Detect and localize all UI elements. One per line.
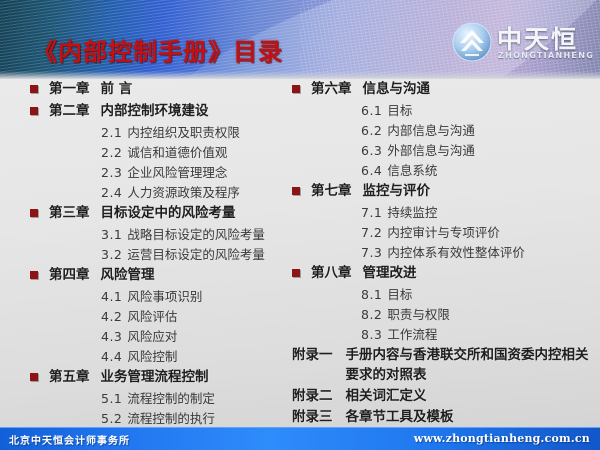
toc-section-title: 内部信息与沟通 bbox=[387, 123, 475, 138]
toc-chapter-title: 业务管理流程控制 bbox=[101, 369, 209, 385]
toc-chapter-number: 第一章 bbox=[49, 81, 90, 97]
toc-section-title: 战略目标设定的风险考量 bbox=[127, 227, 265, 242]
toc-chapter-title: 信息与沟通 bbox=[363, 81, 431, 97]
toc-section-number: 8.2 bbox=[361, 307, 382, 322]
toc-section-item[interactable]: 8.2职责与权限 bbox=[361, 305, 592, 324]
toc-section-number: 6.2 bbox=[361, 123, 382, 138]
company-logo: 中天恒 ZHONGTIANHENG bbox=[452, 22, 592, 68]
mountain-chevron-emblem-icon bbox=[452, 22, 492, 62]
toc-chapter-item[interactable]: 第一章前 言 bbox=[30, 79, 295, 99]
toc-right-column: 第六章信息与沟通6.1目标6.2内部信息与沟通6.3外部信息与沟通6.4信息系统… bbox=[292, 79, 592, 428]
toc-chapter-title: 前 言 bbox=[101, 81, 133, 97]
toc-section-item[interactable]: 2.4人力资源政策及程序 bbox=[101, 183, 295, 202]
toc-section-item[interactable]: 6.2内部信息与沟通 bbox=[361, 121, 592, 140]
toc-section-number: 2.4 bbox=[101, 185, 122, 200]
slide-footer-bar: 北京中天恒会计师事务所 www.zhongtianheng.com.cn bbox=[0, 427, 600, 450]
toc-appendix-title: 手册内容与香港联交所和国资委内控相关要求的对照表 bbox=[346, 345, 593, 385]
toc-section-number: 6.4 bbox=[361, 163, 382, 178]
toc-chapter-item[interactable]: 第四章风险管理 bbox=[30, 265, 295, 285]
toc-section-number: 5.2 bbox=[101, 411, 122, 426]
toc-chapter-label: 第一章前 言 bbox=[49, 79, 132, 99]
toc-left-column: 第一章前 言第二章内部控制环境建设2.1内控组织及职责权限2.2诚信和道德价值观… bbox=[30, 79, 295, 429]
toc-chapter-item[interactable]: 第五章业务管理流程控制 bbox=[30, 367, 295, 387]
toc-section-title: 信息系统 bbox=[387, 163, 437, 178]
toc-section-item[interactable]: 6.3外部信息与沟通 bbox=[361, 141, 592, 160]
toc-section-title: 风险评估 bbox=[127, 309, 177, 324]
toc-appendix-item[interactable]: 附录一手册内容与香港联交所和国资委内控相关要求的对照表 bbox=[292, 345, 592, 385]
toc-chapter-number: 第七章 bbox=[311, 183, 352, 199]
toc-section-number: 7.2 bbox=[361, 225, 382, 240]
toc-section-item[interactable]: 4.2风险评估 bbox=[101, 307, 295, 326]
toc-chapter-label: 第七章监控与评价 bbox=[311, 181, 430, 201]
toc-section-title: 内控体系有效性整体评价 bbox=[387, 245, 525, 260]
toc-section-item[interactable]: 2.2诚信和道德价值观 bbox=[101, 143, 295, 162]
toc-section-title: 运营目标设定的风险考量 bbox=[127, 247, 265, 262]
table-of-contents: 第一章前 言第二章内部控制环境建设2.1内控组织及职责权限2.2诚信和道德价值观… bbox=[0, 79, 600, 424]
footer-organization: 北京中天恒会计师事务所 bbox=[9, 432, 130, 447]
toc-section-title: 工作流程 bbox=[387, 327, 437, 342]
toc-section-item[interactable]: 2.1内控组织及职责权限 bbox=[101, 123, 295, 142]
square-bullet-icon bbox=[30, 271, 38, 279]
toc-section-title: 职责与权限 bbox=[387, 307, 450, 322]
toc-appendix-label: 附录一 bbox=[292, 345, 333, 365]
toc-chapter-number: 第四章 bbox=[49, 267, 90, 283]
toc-section-title: 风险事项识别 bbox=[127, 289, 202, 304]
toc-section-number: 7.3 bbox=[361, 245, 382, 260]
square-bullet-icon bbox=[30, 85, 38, 93]
square-bullet-icon bbox=[30, 209, 38, 217]
toc-section-number: 7.1 bbox=[361, 205, 382, 220]
toc-chapter-item[interactable]: 第二章内部控制环境建设 bbox=[30, 101, 295, 121]
toc-appendix-label: 附录二 bbox=[292, 386, 333, 406]
toc-section-item[interactable]: 2.3企业风险管理理念 bbox=[101, 163, 295, 182]
toc-section-title: 目标 bbox=[387, 287, 412, 302]
toc-section-item[interactable]: 7.2内控审计与专项评价 bbox=[361, 223, 592, 242]
toc-chapter-number: 第六章 bbox=[311, 81, 352, 97]
toc-section-title: 诚信和道德价值观 bbox=[127, 145, 227, 160]
toc-chapter-item[interactable]: 第八章管理改进 bbox=[292, 263, 592, 283]
toc-section-item[interactable]: 3.1战略目标设定的风险考量 bbox=[101, 225, 295, 244]
footer-website-link[interactable]: www.zhongtianheng.com.cn bbox=[414, 432, 590, 445]
toc-section-number: 2.3 bbox=[101, 165, 122, 180]
toc-chapter-item[interactable]: 第七章监控与评价 bbox=[292, 181, 592, 201]
toc-section-title: 内控审计与专项评价 bbox=[387, 225, 500, 240]
toc-section-number: 6.1 bbox=[361, 103, 382, 118]
page-title: 《内部控制手册》目录 bbox=[33, 32, 283, 67]
toc-section-item[interactable]: 6.4信息系统 bbox=[361, 161, 592, 180]
toc-appendix-title: 各章节工具及模板 bbox=[346, 407, 454, 427]
toc-chapter-label: 第二章内部控制环境建设 bbox=[49, 101, 209, 121]
toc-section-item[interactable]: 7.3内控体系有效性整体评价 bbox=[361, 243, 592, 262]
toc-section-number: 8.1 bbox=[361, 287, 382, 302]
logo-english-name: ZHONGTIANHENG bbox=[498, 51, 594, 60]
toc-section-number: 5.1 bbox=[101, 391, 122, 406]
toc-section-number: 2.2 bbox=[101, 145, 122, 160]
toc-appendix-item[interactable]: 附录二相关词汇定义 bbox=[292, 386, 592, 406]
toc-section-number: 3.2 bbox=[101, 247, 122, 262]
toc-section-number: 6.3 bbox=[361, 143, 382, 158]
toc-section-title: 目标 bbox=[387, 103, 412, 118]
toc-section-item[interactable]: 4.1风险事项识别 bbox=[101, 287, 295, 306]
toc-section-item[interactable]: 5.2流程控制的执行 bbox=[101, 409, 295, 428]
toc-section-number: 4.3 bbox=[101, 329, 122, 344]
toc-section-title: 流程控制的制定 bbox=[127, 391, 215, 406]
toc-chapter-item[interactable]: 第三章目标设定中的风险考量 bbox=[30, 203, 295, 223]
toc-appendix-label: 附录三 bbox=[292, 407, 333, 427]
toc-section-number: 4.2 bbox=[101, 309, 122, 324]
toc-section-item[interactable]: 4.3风险应对 bbox=[101, 327, 295, 346]
toc-chapter-title: 内部控制环境建设 bbox=[101, 103, 209, 119]
square-bullet-icon bbox=[292, 85, 300, 93]
toc-section-number: 8.3 bbox=[361, 327, 382, 342]
toc-chapter-label: 第三章目标设定中的风险考量 bbox=[49, 203, 236, 223]
toc-section-title: 风险控制 bbox=[127, 349, 177, 364]
toc-section-item[interactable]: 8.1目标 bbox=[361, 285, 592, 304]
toc-section-item[interactable]: 4.4风险控制 bbox=[101, 347, 295, 366]
toc-chapter-title: 目标设定中的风险考量 bbox=[101, 205, 236, 221]
toc-section-title: 风险应对 bbox=[127, 329, 177, 344]
square-bullet-icon bbox=[292, 269, 300, 277]
square-bullet-icon bbox=[292, 187, 300, 195]
toc-section-item[interactable]: 8.3工作流程 bbox=[361, 325, 592, 344]
toc-chapter-label: 第五章业务管理流程控制 bbox=[49, 367, 209, 387]
toc-chapter-number: 第五章 bbox=[49, 369, 90, 385]
square-bullet-icon bbox=[30, 373, 38, 381]
toc-section-title: 流程控制的执行 bbox=[127, 411, 215, 426]
toc-chapter-number: 第八章 bbox=[311, 265, 352, 281]
toc-section-number: 4.4 bbox=[101, 349, 122, 364]
toc-section-item[interactable]: 3.2运营目标设定的风险考量 bbox=[101, 245, 295, 264]
toc-chapter-number: 第二章 bbox=[49, 103, 90, 119]
toc-section-title: 外部信息与沟通 bbox=[387, 143, 475, 158]
square-bullet-icon bbox=[30, 107, 38, 115]
presentation-slide: 《内部控制手册》目录 中天恒 bbox=[0, 0, 600, 450]
toc-section-item[interactable]: 5.1流程控制的制定 bbox=[101, 389, 295, 408]
toc-chapter-label: 第四章风险管理 bbox=[49, 265, 155, 285]
header-bottom-fade bbox=[0, 71, 600, 79]
toc-appendix-title: 相关词汇定义 bbox=[346, 386, 427, 406]
toc-section-title: 人力资源政策及程序 bbox=[127, 185, 240, 200]
toc-appendix-item[interactable]: 附录三各章节工具及模板 bbox=[292, 407, 592, 427]
toc-chapter-number: 第三章 bbox=[49, 205, 90, 221]
toc-chapter-label: 第八章管理改进 bbox=[311, 263, 417, 283]
toc-section-title: 持续监控 bbox=[387, 205, 437, 220]
toc-section-item[interactable]: 6.1目标 bbox=[361, 101, 592, 120]
toc-chapter-title: 监控与评价 bbox=[363, 183, 431, 199]
toc-section-number: 4.1 bbox=[101, 289, 122, 304]
toc-section-item[interactable]: 7.1持续监控 bbox=[361, 203, 592, 222]
slide-header-banner: 《内部控制手册》目录 中天恒 bbox=[0, 0, 600, 79]
toc-section-title: 内控组织及职责权限 bbox=[127, 125, 240, 140]
toc-section-title: 企业风险管理理念 bbox=[127, 165, 227, 180]
toc-chapter-title: 风险管理 bbox=[101, 267, 155, 283]
toc-section-number: 3.1 bbox=[101, 227, 122, 242]
toc-chapter-label: 第六章信息与沟通 bbox=[311, 79, 430, 99]
toc-chapter-title: 管理改进 bbox=[363, 265, 417, 281]
toc-section-number: 2.1 bbox=[101, 125, 122, 140]
toc-chapter-item[interactable]: 第六章信息与沟通 bbox=[292, 79, 592, 99]
